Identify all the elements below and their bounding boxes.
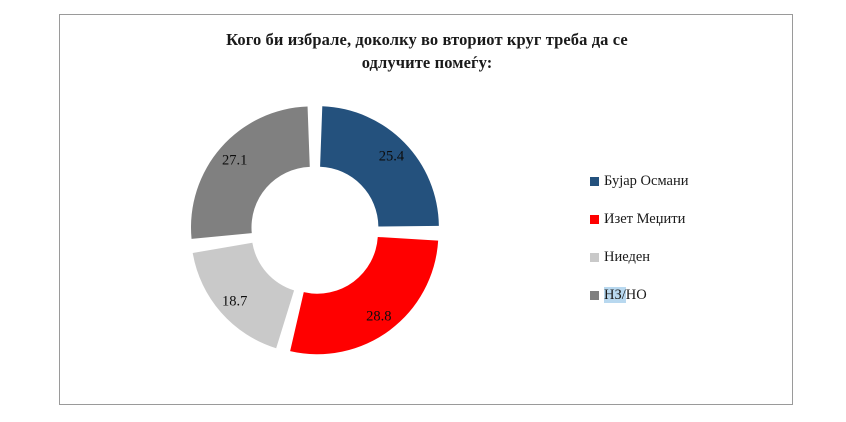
legend-color-swatch — [590, 253, 599, 262]
unselected-text: НО — [626, 287, 647, 303]
legend-color-swatch — [590, 177, 599, 186]
legend-item-label: Ниеден — [604, 249, 650, 266]
doughnut-slices — [191, 106, 439, 354]
legend-color-swatch — [590, 291, 599, 300]
slice-data-label: 27.1 — [222, 153, 247, 169]
doughnut-slice — [290, 237, 438, 354]
legend-item[interactable]: Изет Меџити — [590, 200, 770, 238]
slice-data-label: 25.4 — [379, 148, 405, 164]
legend-item[interactable]: Ниеден — [590, 238, 770, 276]
chart-frame: Кого би избрале, доколку во вториот круг… — [59, 14, 793, 405]
slice-data-label: 28.8 — [366, 309, 391, 325]
chart-legend: Бујар ОсманиИзет МеџитиНиеденНЗ/НО — [590, 162, 770, 314]
legend-item-label: Изет Меџити — [604, 211, 685, 228]
selected-text: НЗ/ — [604, 287, 626, 303]
doughnut-slice — [320, 106, 439, 226]
legend-item-label: НЗ/НО — [604, 287, 647, 304]
legend-color-swatch — [590, 215, 599, 224]
legend-item-label: Бујар Османи — [604, 173, 689, 190]
doughnut-chart: 25.428.818.727.1 — [190, 105, 440, 355]
legend-item[interactable]: Бујар Османи — [590, 162, 770, 200]
slice-data-label: 18.7 — [222, 293, 247, 309]
legend-item[interactable]: НЗ/НО — [590, 276, 770, 314]
doughnut-slice — [191, 106, 310, 238]
